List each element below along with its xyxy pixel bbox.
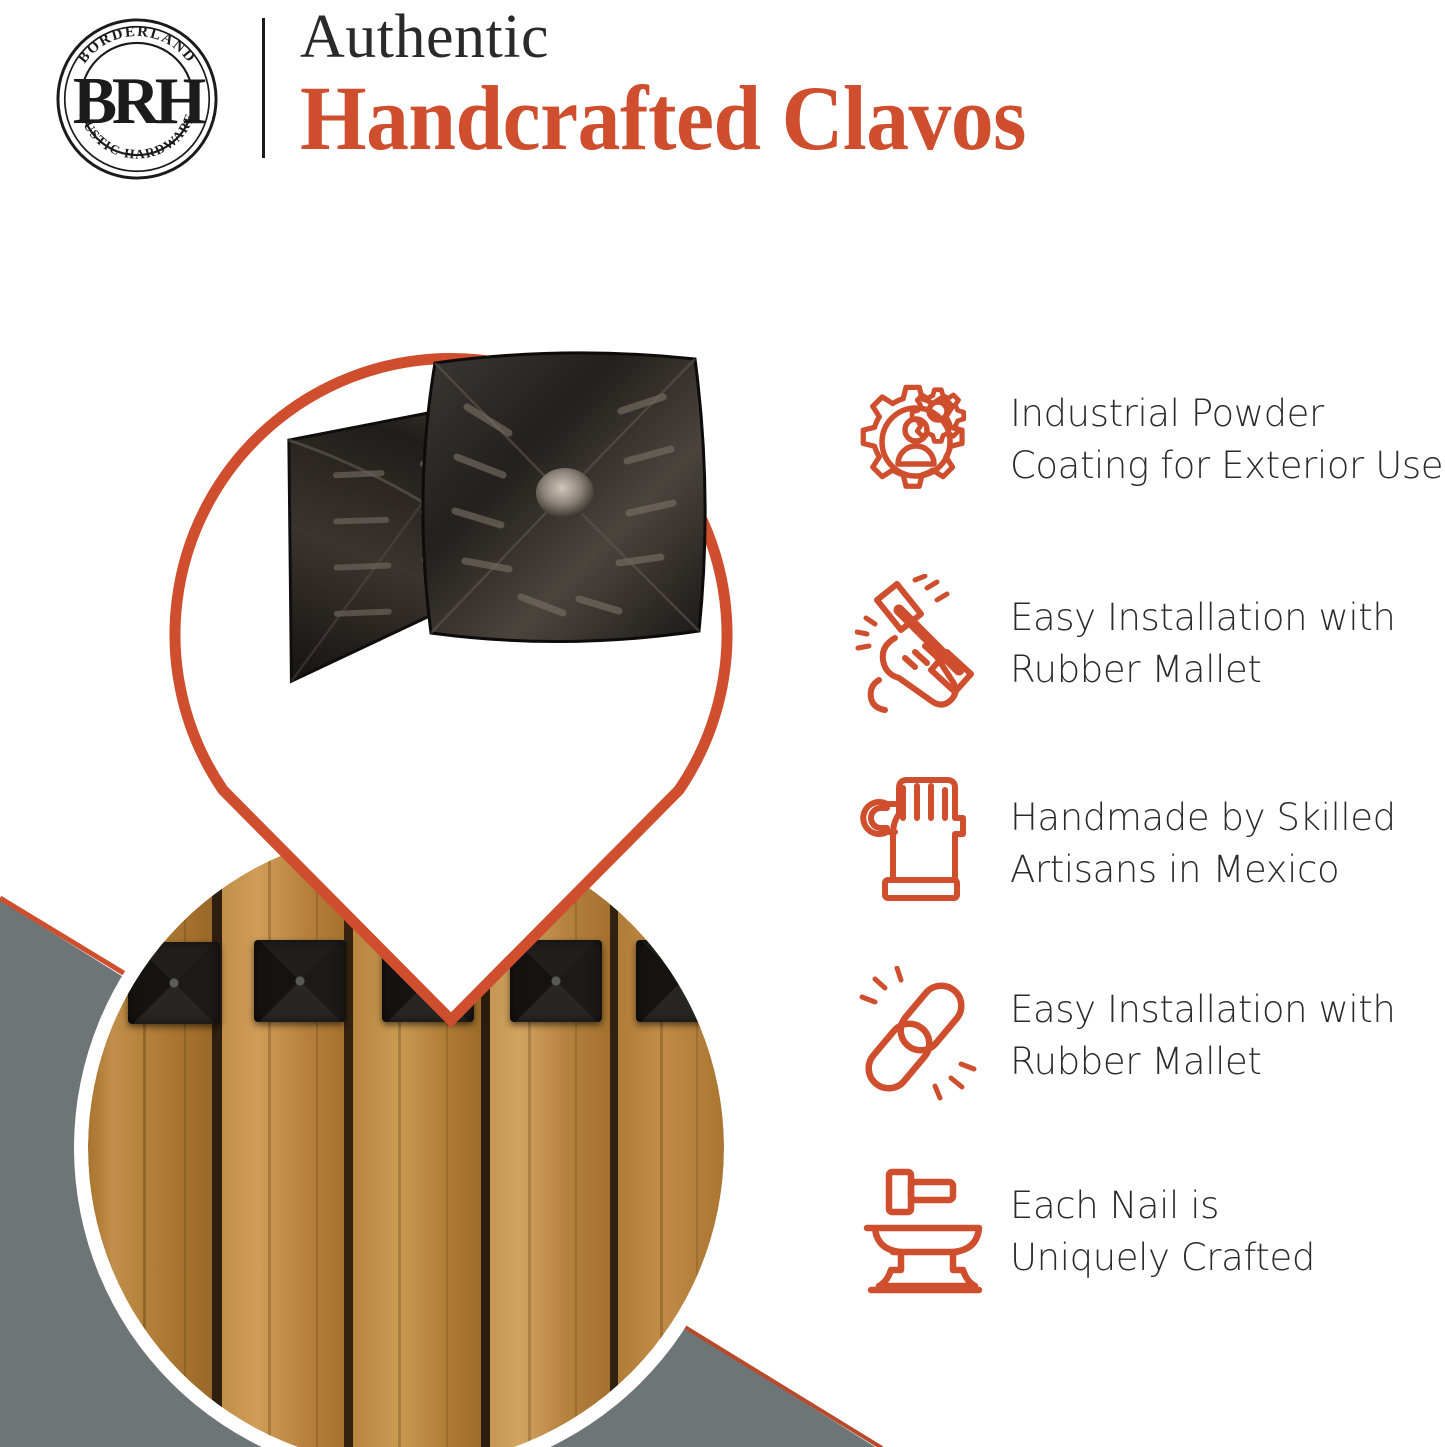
fist-wrench-icon [840, 769, 1010, 919]
feature-list: Industrial Powder Coating for Exterior U… [840, 360, 1445, 1340]
svg-text:BORDERLAND: BORDERLAND [75, 24, 199, 67]
feature-item: Industrial Powder Coating for Exterior U… [840, 360, 1445, 520]
feature-item: Each Nail is Uniquely Crafted [840, 1152, 1445, 1312]
chain-link-icon [840, 961, 1010, 1111]
anvil-hammer-icon [840, 1157, 1010, 1307]
hero-visual [0, 190, 830, 1447]
product-photo-group [95, 230, 807, 1030]
feature-label: Handmade by Skilled Artisans in Mexico [1010, 792, 1396, 896]
feature-label: Industrial Powder Coating for Exterior U… [1010, 388, 1443, 492]
clavo-face-on [423, 353, 705, 642]
header-titles: Authentic Handcrafted Clavos [300, 4, 1081, 166]
header: BORDERLAND RUSTIC HARDWARE BRH Authentic… [0, 0, 1445, 190]
feature-label: Easy Installation with Rubber Mallet [1010, 984, 1395, 1088]
header-eyebrow: Authentic [300, 4, 1081, 70]
feature-label: Easy Installation with Rubber Mallet [1010, 592, 1395, 696]
header-divider [262, 18, 265, 158]
feature-label: Each Nail is Uniquely Crafted [1010, 1180, 1315, 1284]
feature-item: Handmade by Skilled Artisans in Mexico [840, 764, 1445, 924]
brand-logo-icon: BORDERLAND RUSTIC HARDWARE BRH [52, 14, 222, 184]
svg-text:BRH: BRH [73, 65, 206, 138]
infographic-canvas: BORDERLAND RUSTIC HARDWARE BRH Authentic… [0, 0, 1445, 1447]
gear-person-icon [840, 365, 1010, 515]
page-title: Handcrafted Clavos [300, 70, 1026, 166]
feature-item: Easy Installation with Rubber Mallet [840, 564, 1445, 724]
feature-item: Easy Installation with Rubber Mallet [840, 956, 1445, 1116]
hand-hammer-icon [840, 569, 1010, 719]
